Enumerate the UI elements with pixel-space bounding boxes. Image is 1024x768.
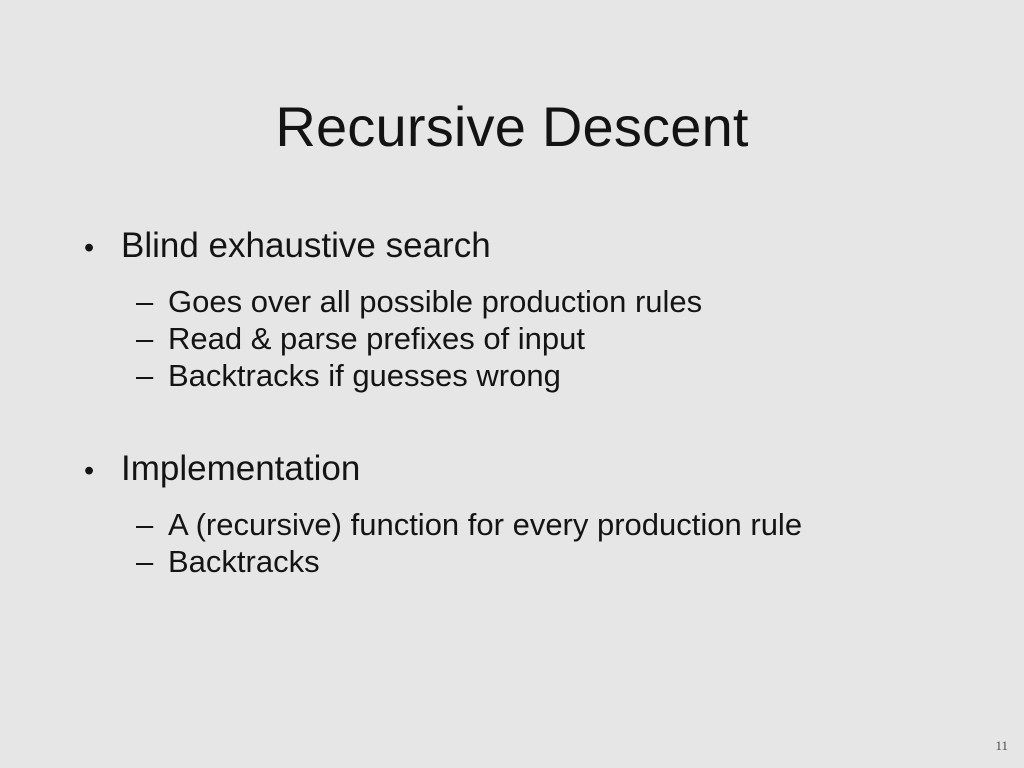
bullet-level1-label: Implementation bbox=[121, 451, 360, 486]
bullet-level1-label: Blind exhaustive search bbox=[121, 228, 491, 263]
bullet-dash-icon: – bbox=[136, 360, 168, 391]
bullet-level2-label: Backtracks if guesses wrong bbox=[168, 360, 561, 391]
bullet-dot-icon: • bbox=[84, 234, 121, 263]
slide-canvas: Recursive Descent • Blind exhaustive sea… bbox=[0, 0, 1024, 768]
bullet-level2-label: A (recursive) function for every product… bbox=[168, 509, 802, 540]
bullet-level2: – Backtracks if guesses wrong bbox=[84, 360, 984, 391]
bullet-level2: – Backtracks bbox=[84, 546, 984, 577]
bullet-dash-icon: – bbox=[136, 286, 168, 317]
group-spacer bbox=[84, 397, 984, 451]
bullet-level2: – Goes over all possible production rule… bbox=[84, 286, 984, 317]
page-number: 11 bbox=[995, 739, 1008, 752]
bullet-level2: – A (recursive) function for every produ… bbox=[84, 509, 984, 540]
slide-body: • Blind exhaustive search – Goes over al… bbox=[84, 228, 984, 583]
bullet-level2-label: Backtracks bbox=[168, 546, 320, 577]
bullet-level1: • Blind exhaustive search bbox=[84, 228, 984, 263]
bullet-dash-icon: – bbox=[136, 323, 168, 354]
page-title: Recursive Descent bbox=[0, 96, 1024, 159]
bullet-level2-label: Read & parse prefixes of input bbox=[168, 323, 585, 354]
bullet-dash-icon: – bbox=[136, 546, 168, 577]
bullet-level2-label: Goes over all possible production rules bbox=[168, 286, 702, 317]
bullet-level1: • Implementation bbox=[84, 451, 984, 486]
bullet-level2: – Read & parse prefixes of input bbox=[84, 323, 984, 354]
bullet-dash-icon: – bbox=[136, 509, 168, 540]
bullet-dot-icon: • bbox=[84, 457, 121, 486]
